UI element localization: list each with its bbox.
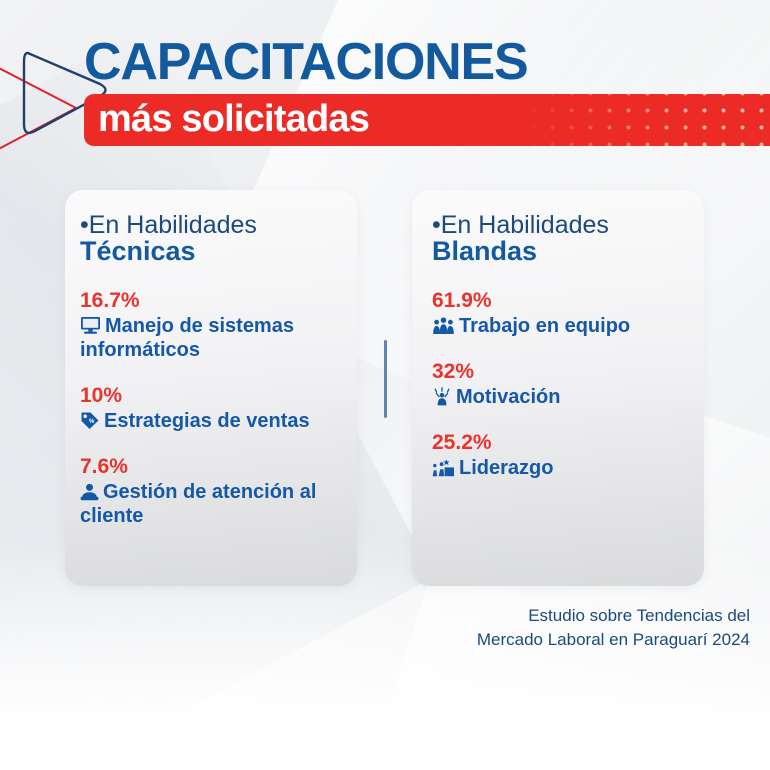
person-cheering-icon	[432, 387, 452, 406]
column-technical-skills: •En Habilidades Técnicas 16.7% Manejo de…	[80, 212, 350, 528]
stat-item: 16.7% Manejo de sistemas informáticos	[80, 289, 350, 362]
stat-label: % Estrategias de ventas	[80, 409, 350, 433]
stat-percent: 7.6%	[80, 455, 350, 479]
column-heading-line2: Técnicas	[80, 237, 350, 267]
stat-label-text: Motivación	[456, 386, 560, 408]
dot-pattern	[520, 94, 770, 146]
column-heading-line2: Blandas	[432, 237, 712, 267]
page-title: CAPACITACIONES	[84, 36, 528, 88]
stat-label-text: Trabajo en equipo	[459, 315, 630, 337]
stat-item: 25.2% Liderazgo	[432, 431, 712, 480]
price-tag-icon: %	[80, 411, 100, 430]
stat-percent: 61.9%	[432, 289, 712, 313]
stat-percent: 16.7%	[80, 289, 350, 313]
stat-label: Manejo de sistemas informáticos	[80, 314, 350, 362]
stat-percent: 32%	[432, 360, 712, 384]
page-subtitle: más solicitadas	[98, 100, 369, 138]
stat-label-text: Manejo de sistemas informáticos	[80, 315, 294, 361]
leader-on-podium-icon	[432, 458, 455, 477]
infographic-poster: CAPACITACIONES más solicitadas •En Habil…	[0, 0, 770, 770]
stat-percent: 25.2%	[432, 431, 712, 455]
column-divider	[384, 340, 387, 418]
stat-item: 61.9% Trabajo en equipo	[432, 289, 712, 338]
stat-label: Liderazgo	[432, 456, 712, 480]
study-caption: Estudio sobre Tendencias del Mercado Lab…	[370, 604, 750, 652]
svg-text:%: %	[89, 419, 95, 425]
stat-item: 10% % Estrategias de ventas	[80, 384, 350, 433]
stat-label: Gestión de atención al cliente	[80, 480, 350, 528]
stat-label: Motivación	[432, 385, 712, 409]
stat-label-text: Gestión de atención al cliente	[80, 481, 316, 527]
column-soft-skills: •En Habilidades Blandas 61.9% Trabajo en…	[432, 212, 712, 480]
desktop-computer-icon	[80, 316, 101, 335]
stat-item: 32% Motivación	[432, 360, 712, 409]
stat-item: 7.6% Gestión de atención al cliente	[80, 455, 350, 528]
caption-line1: Estudio sobre Tendencias del	[370, 604, 750, 628]
customer-support-person-icon	[80, 482, 99, 501]
column-heading-line1: •En Habilidades	[80, 212, 350, 239]
stat-label-text: Liderazgo	[459, 457, 553, 479]
stat-label-text: Estrategias de ventas	[104, 410, 310, 432]
stat-label: Trabajo en equipo	[432, 314, 712, 338]
column-heading-line1: •En Habilidades	[432, 212, 712, 239]
stat-percent: 10%	[80, 384, 350, 408]
group-of-people-icon	[432, 316, 455, 335]
footer-logo-bar: MINISTERIO DE TRABAJO, EMPLEO Y SEGURIDA…	[0, 672, 770, 750]
caption-line2: Mercado Laboral en Paraguarí 2024	[370, 628, 750, 652]
